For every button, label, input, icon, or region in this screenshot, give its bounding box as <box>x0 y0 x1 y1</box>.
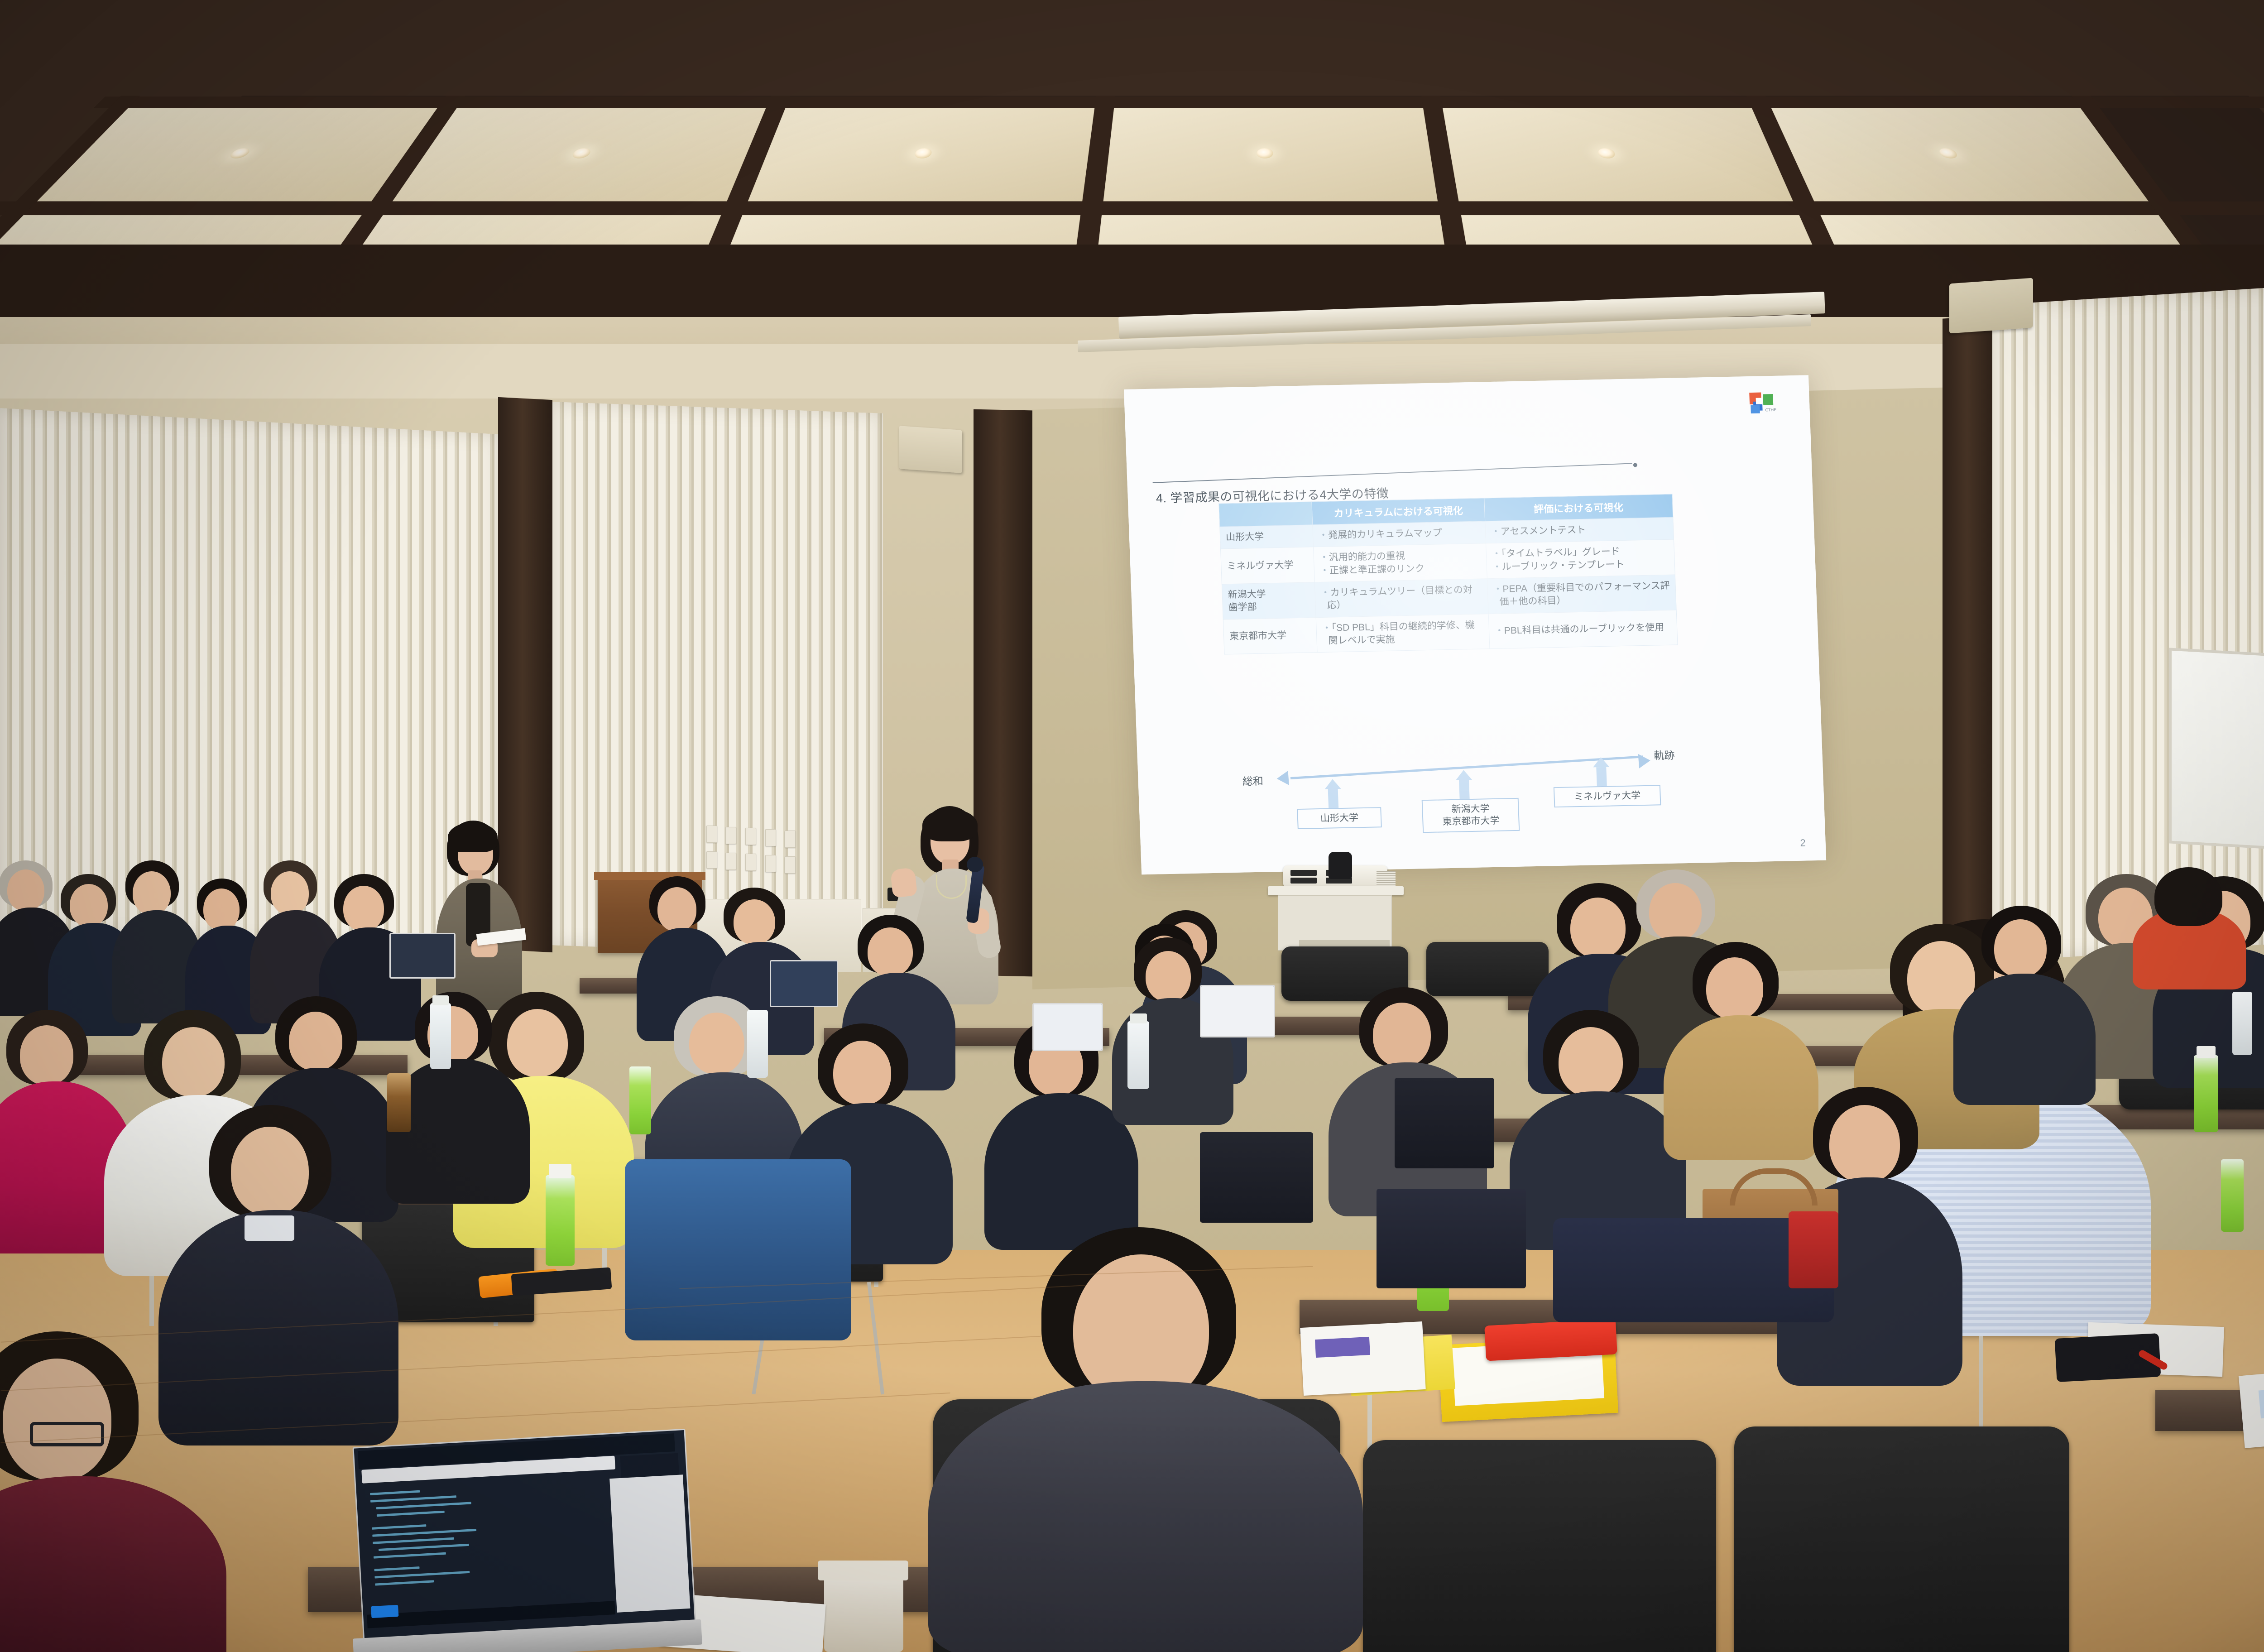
slide-header-rule <box>1153 463 1632 483</box>
taskbar-active-item[interactable] <box>371 1605 398 1618</box>
wall-speaker <box>1949 278 2033 334</box>
audience-member <box>1956 906 2092 1105</box>
conference-room-photo: CTHE 4. 学習成果の可視化における4大学の特徴 カリキュラムにおける可視化… <box>0 0 2264 1652</box>
audience-member-orange <box>2133 867 2246 985</box>
green-tea-bottle <box>2194 1055 2218 1132</box>
audience-member-foreground-center <box>928 1227 1363 1652</box>
torso-sweater <box>0 1476 226 1652</box>
head <box>1649 883 1702 941</box>
laptop-computer[interactable] <box>389 933 456 979</box>
up-arrow-head-icon <box>1455 770 1472 780</box>
row-curriculum: カリキュラムツリー（目標との対応） <box>1314 579 1488 618</box>
head <box>734 899 775 945</box>
head <box>3 1359 111 1481</box>
water-bottle <box>747 1010 768 1078</box>
head <box>20 1025 73 1085</box>
sidebar-panel <box>609 1474 690 1613</box>
torso-jacket <box>928 1381 1363 1652</box>
diagram-box-minerva: ミネルヴァ大学 <box>1554 785 1661 807</box>
water-bottle <box>430 1003 451 1069</box>
audience-member <box>1512 1010 1684 1245</box>
progression-diagram: 総和 軌跡 山形大学 新潟大学 東京都市大学 ミネルヴァ大学 <box>1246 745 1693 854</box>
arrow-head-right-icon <box>1638 753 1651 768</box>
laptop-computer-foreground[interactable] <box>358 1438 702 1652</box>
water-bottle <box>1127 1021 1149 1089</box>
vent-fins <box>1377 871 1396 886</box>
head <box>203 888 240 930</box>
head <box>70 884 108 927</box>
light-switch-panel[interactable] <box>765 855 776 872</box>
head <box>868 927 913 976</box>
row-assessment: アセスメントテスト <box>1485 517 1674 543</box>
laptop-display <box>391 934 454 977</box>
head <box>657 887 696 932</box>
bullet: 発展的カリキュラムマップ <box>1319 526 1480 543</box>
bullet: カリキュラムツリー（目標との対応） <box>1320 584 1482 613</box>
hand-raised <box>890 867 917 898</box>
up-arrow-shaft <box>1459 780 1470 799</box>
window-blinds-right <box>1992 274 2264 961</box>
wall-pillar-right <box>1943 315 1997 961</box>
backpack <box>1377 1189 1526 1288</box>
laptop-computer[interactable] <box>1032 1003 1103 1051</box>
slide-page-number: 2 <box>1800 837 1806 849</box>
row-curriculum: 汎用的能力の重視 正課と準正課のリンク <box>1314 543 1487 582</box>
light-switch-panel[interactable] <box>765 829 776 846</box>
head <box>689 1013 744 1074</box>
bottle-cap <box>432 995 449 1005</box>
head <box>271 871 309 915</box>
slide-header-dot <box>1633 463 1637 467</box>
row-curriculum: 発展的カリキュラムマップ <box>1313 521 1486 547</box>
row-university: 東京都市大学 <box>1223 617 1317 654</box>
coffee-cup-lid <box>818 1561 908 1580</box>
table-header-assessment: 評価における可視化 <box>1484 494 1673 521</box>
eyeglasses <box>30 1422 104 1446</box>
up-arrow-shaft <box>1596 767 1607 786</box>
chair <box>1363 1440 1716 1652</box>
light-switch-panel[interactable] <box>745 854 756 871</box>
light-switch-panel[interactable] <box>785 831 796 848</box>
light-switch-panel[interactable] <box>706 826 717 843</box>
head <box>833 1041 891 1105</box>
green-tea-bottle <box>2221 1159 2244 1232</box>
up-arrow-head-icon <box>1592 757 1609 768</box>
backpack <box>1200 1132 1313 1223</box>
arrow-head-left-icon <box>1276 771 1289 786</box>
up-arrow-shaft <box>1328 789 1339 808</box>
backpack <box>1395 1078 1494 1168</box>
video-conference-unit <box>1283 865 1387 888</box>
head <box>1373 1003 1431 1067</box>
ceiling-downlight <box>1257 148 1273 158</box>
camera-icon <box>1329 852 1352 879</box>
hair-front <box>922 809 978 841</box>
green-tea-bottle <box>629 1066 651 1134</box>
ceiling-panel <box>1443 108 1794 201</box>
presentation-slide: CTHE 4. 学習成果の可視化における4大学の特徴 カリキュラムにおける可視化… <box>1124 375 1826 874</box>
green-tea-bottle <box>546 1175 575 1266</box>
head <box>289 1012 342 1071</box>
diagram-box-yamagata: 山形大学 <box>1297 807 1382 829</box>
light-switch-panel[interactable] <box>745 828 756 845</box>
row-university: ミネルヴァ大学 <box>1221 547 1315 584</box>
hair <box>2154 867 2222 926</box>
head <box>1829 1105 1900 1183</box>
row-curriculum: 「SD PBL」科目の継続的学修、機関レベルで実施 <box>1316 614 1490 653</box>
head <box>162 1027 225 1097</box>
four-university-comparison-table: カリキュラムにおける可視化 評価における可視化 山形大学 発展的カリキュラムマッ… <box>1218 494 1678 655</box>
av-cart <box>1268 863 1404 953</box>
row-assessment: PEPA（重要科目でのパフォーマンス評価＋他の科目） <box>1487 575 1676 614</box>
canned-coffee <box>387 1073 411 1132</box>
torso-suit <box>1953 974 2096 1105</box>
row-university: 山形大学 <box>1220 525 1314 549</box>
handout-chart-block <box>1315 1337 1370 1358</box>
bullet: PEPA（重要科目でのパフォーマンス評価＋他の科目） <box>1493 580 1670 609</box>
bullet: PBL科目は共通のルーブリックを使用 <box>1494 621 1671 638</box>
microphone-head <box>967 857 983 872</box>
audience-member-foreground-left <box>0 1331 226 1652</box>
collar <box>245 1215 294 1241</box>
head <box>7 869 44 911</box>
cart-shelf-top <box>1268 886 1404 895</box>
bottle-cap <box>549 1164 571 1178</box>
chair <box>1734 1426 2069 1652</box>
row-assessment: 「タイムトラベル」グレード ルーブリック・テンプレート <box>1486 539 1675 578</box>
four-square-logo: CTHE <box>1749 391 1777 417</box>
light-switch-panel[interactable] <box>785 856 796 874</box>
ceiling <box>0 0 2264 353</box>
head <box>1559 1027 1623 1097</box>
row-university: 新潟大学 歯学部 <box>1222 582 1316 619</box>
water-bottle <box>2232 992 2252 1055</box>
head <box>1146 951 1191 1002</box>
wall-speaker <box>899 426 962 473</box>
bottle-cap <box>1130 1013 1147 1023</box>
laptop-display <box>352 1429 696 1644</box>
head <box>133 871 171 915</box>
coat-on-chair <box>625 1159 851 1340</box>
bullet: アセスメントテスト <box>1491 522 1668 538</box>
table-header-curriculum: カリキュラムにおける可視化 <box>1312 498 1485 525</box>
laptop-computer[interactable] <box>770 960 838 1007</box>
table-header-blank <box>1219 502 1313 527</box>
cart-body <box>1278 895 1392 951</box>
bullet: 「SD PBL」科目の継続的学修、機関レベルで実施 <box>1322 619 1484 648</box>
laptop-display <box>1201 986 1274 1036</box>
red-bag <box>1789 1211 1838 1288</box>
row-assessment: PBL科目は共通のルーブリックを使用 <box>1488 610 1678 649</box>
laptop-display <box>1034 1004 1102 1050</box>
bottle-cap <box>2197 1046 2216 1058</box>
laptop-computer[interactable] <box>1200 985 1275 1037</box>
head <box>1994 919 2047 977</box>
diagram-label-right: 軌跡 <box>1654 747 1675 763</box>
red-pencil-case <box>1484 1319 1617 1361</box>
up-arrow-head-icon <box>1324 779 1341 789</box>
ceiling-beam <box>0 202 2264 215</box>
hair-front <box>448 822 498 852</box>
light-switch-panel[interactable] <box>706 851 717 869</box>
head <box>343 886 384 931</box>
laptop-display <box>771 961 837 1006</box>
diagram-label-left: 総和 <box>1242 773 1263 788</box>
light-switch-panel[interactable] <box>725 827 736 844</box>
ceiling-beam <box>94 96 2264 108</box>
diagram-box-niigata-tokyocity: 新潟大学 東京都市大学 <box>1422 798 1520 833</box>
paper-coffee-cup <box>824 1571 903 1652</box>
head <box>1706 957 1763 1020</box>
whiteboard <box>2169 648 2264 861</box>
taskbar <box>367 1601 615 1628</box>
head <box>231 1127 309 1215</box>
window-blinds-left <box>0 408 498 955</box>
paper-handout <box>1300 1321 1425 1396</box>
light-switch-panel[interactable] <box>725 853 736 870</box>
